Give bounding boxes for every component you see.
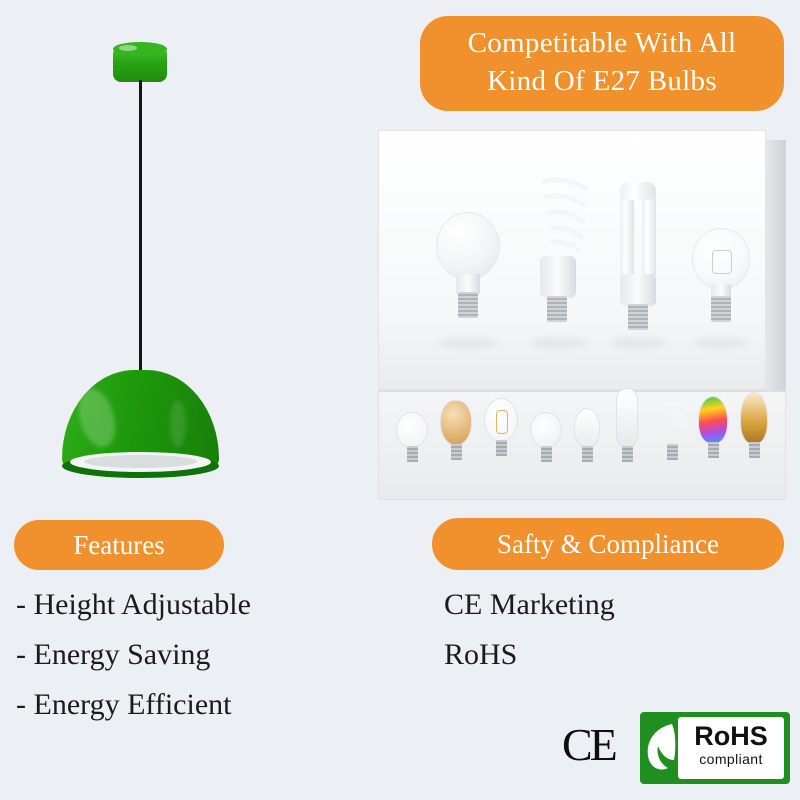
mini-led-glass <box>396 412 428 448</box>
candle-led-glass <box>574 408 600 448</box>
incandescent-bulb <box>692 228 750 332</box>
headline-line-2: Kind Of E27 Bulbs <box>430 62 774 100</box>
led-bulb <box>436 212 500 330</box>
spiral-cfl-shadow <box>530 338 588 348</box>
candle-led-bulb <box>574 408 606 482</box>
amber-vintage-bulb <box>440 400 474 482</box>
rohs-compliant-badge: RoHS compliant <box>640 712 790 784</box>
lamp-shade-highlight-secondary <box>170 400 186 448</box>
features-list: - Height Adjustable - Energy Saving - En… <box>16 580 406 730</box>
lamp-shade-inner-deep <box>84 455 197 468</box>
cfl-tube-bridge <box>620 182 656 200</box>
cfl-tube-left <box>620 188 634 280</box>
box-shelf-divider <box>378 390 786 392</box>
features-pill: Features <box>14 520 224 570</box>
headline-line-1: Competitable With All <box>430 24 774 62</box>
gold-tip-candle-bulb <box>740 392 774 482</box>
twin-tube-cfl-shadow <box>610 338 666 348</box>
led-bulb-base <box>458 292 478 318</box>
clear-filament-wire <box>496 410 508 434</box>
compliance-item: RoHS <box>444 630 774 680</box>
frosted-led-bulb <box>530 412 564 482</box>
lamp-cord <box>139 80 142 380</box>
safety-compliance-pill: Safty & Compliance <box>432 518 784 570</box>
clear-filament-bulb <box>484 398 520 482</box>
headline-banner: Competitable With All Kind Of E27 Bulbs <box>420 16 784 111</box>
compliance-item: CE Marketing <box>444 580 774 630</box>
mini-spiral-cfl <box>658 402 690 482</box>
mini-led-base <box>407 446 418 462</box>
lamp-ceiling-cap <box>113 48 167 82</box>
twin-tube-cfl-base <box>628 304 648 330</box>
frosted-led-glass <box>530 412 562 448</box>
twin-tube-cfl-bulb <box>610 188 666 336</box>
rgb-color-base <box>708 442 719 458</box>
pendant-lamp-illustration <box>0 0 400 500</box>
bulb-display-box <box>378 130 786 500</box>
incandescent-shadow <box>694 338 748 348</box>
mini-led-bulb <box>396 412 430 482</box>
rohs-label-area: RoHS compliant <box>678 717 784 779</box>
ce-mark-icon: CE <box>562 718 632 768</box>
incandescent-base <box>711 296 731 322</box>
mini-spiral-base <box>667 444 678 460</box>
box-side-panel <box>766 140 786 395</box>
frosted-led-base <box>541 446 552 462</box>
rohs-subtitle: compliant <box>678 751 784 767</box>
feature-item: - Energy Efficient <box>16 680 406 730</box>
rgb-color-bulb <box>698 396 732 482</box>
tall-tube-base <box>622 446 633 462</box>
led-bulb-glass <box>436 212 500 280</box>
cfl-tube-right <box>642 188 656 280</box>
led-bulb-neck <box>456 274 480 294</box>
amber-vintage-base <box>451 444 462 460</box>
rgb-color-glass <box>698 396 728 444</box>
clear-filament-base <box>496 440 507 456</box>
lamp-shade-highlight <box>72 384 121 451</box>
spiral-cfl-bulb <box>528 178 590 333</box>
feature-item: - Energy Saving <box>16 630 406 680</box>
feature-item: - Height Adjustable <box>16 580 406 630</box>
amber-vintage-glass <box>440 400 472 446</box>
candle-led-base <box>582 446 593 462</box>
compliance-list: CE Marketing RoHS <box>444 580 774 680</box>
rohs-title: RoHS <box>678 721 784 751</box>
incandescent-filament <box>712 250 732 274</box>
spiral-cfl-ballast <box>540 256 576 298</box>
tall-tube-glass <box>616 388 638 448</box>
led-bulb-shadow <box>438 338 498 348</box>
cfl-ballast <box>620 274 656 306</box>
tall-tube-bulb <box>616 388 646 482</box>
gold-tip-base <box>749 442 760 458</box>
gold-tip-glass <box>740 392 768 444</box>
spiral-cfl-base <box>547 296 567 322</box>
leaf-icon <box>644 722 676 774</box>
